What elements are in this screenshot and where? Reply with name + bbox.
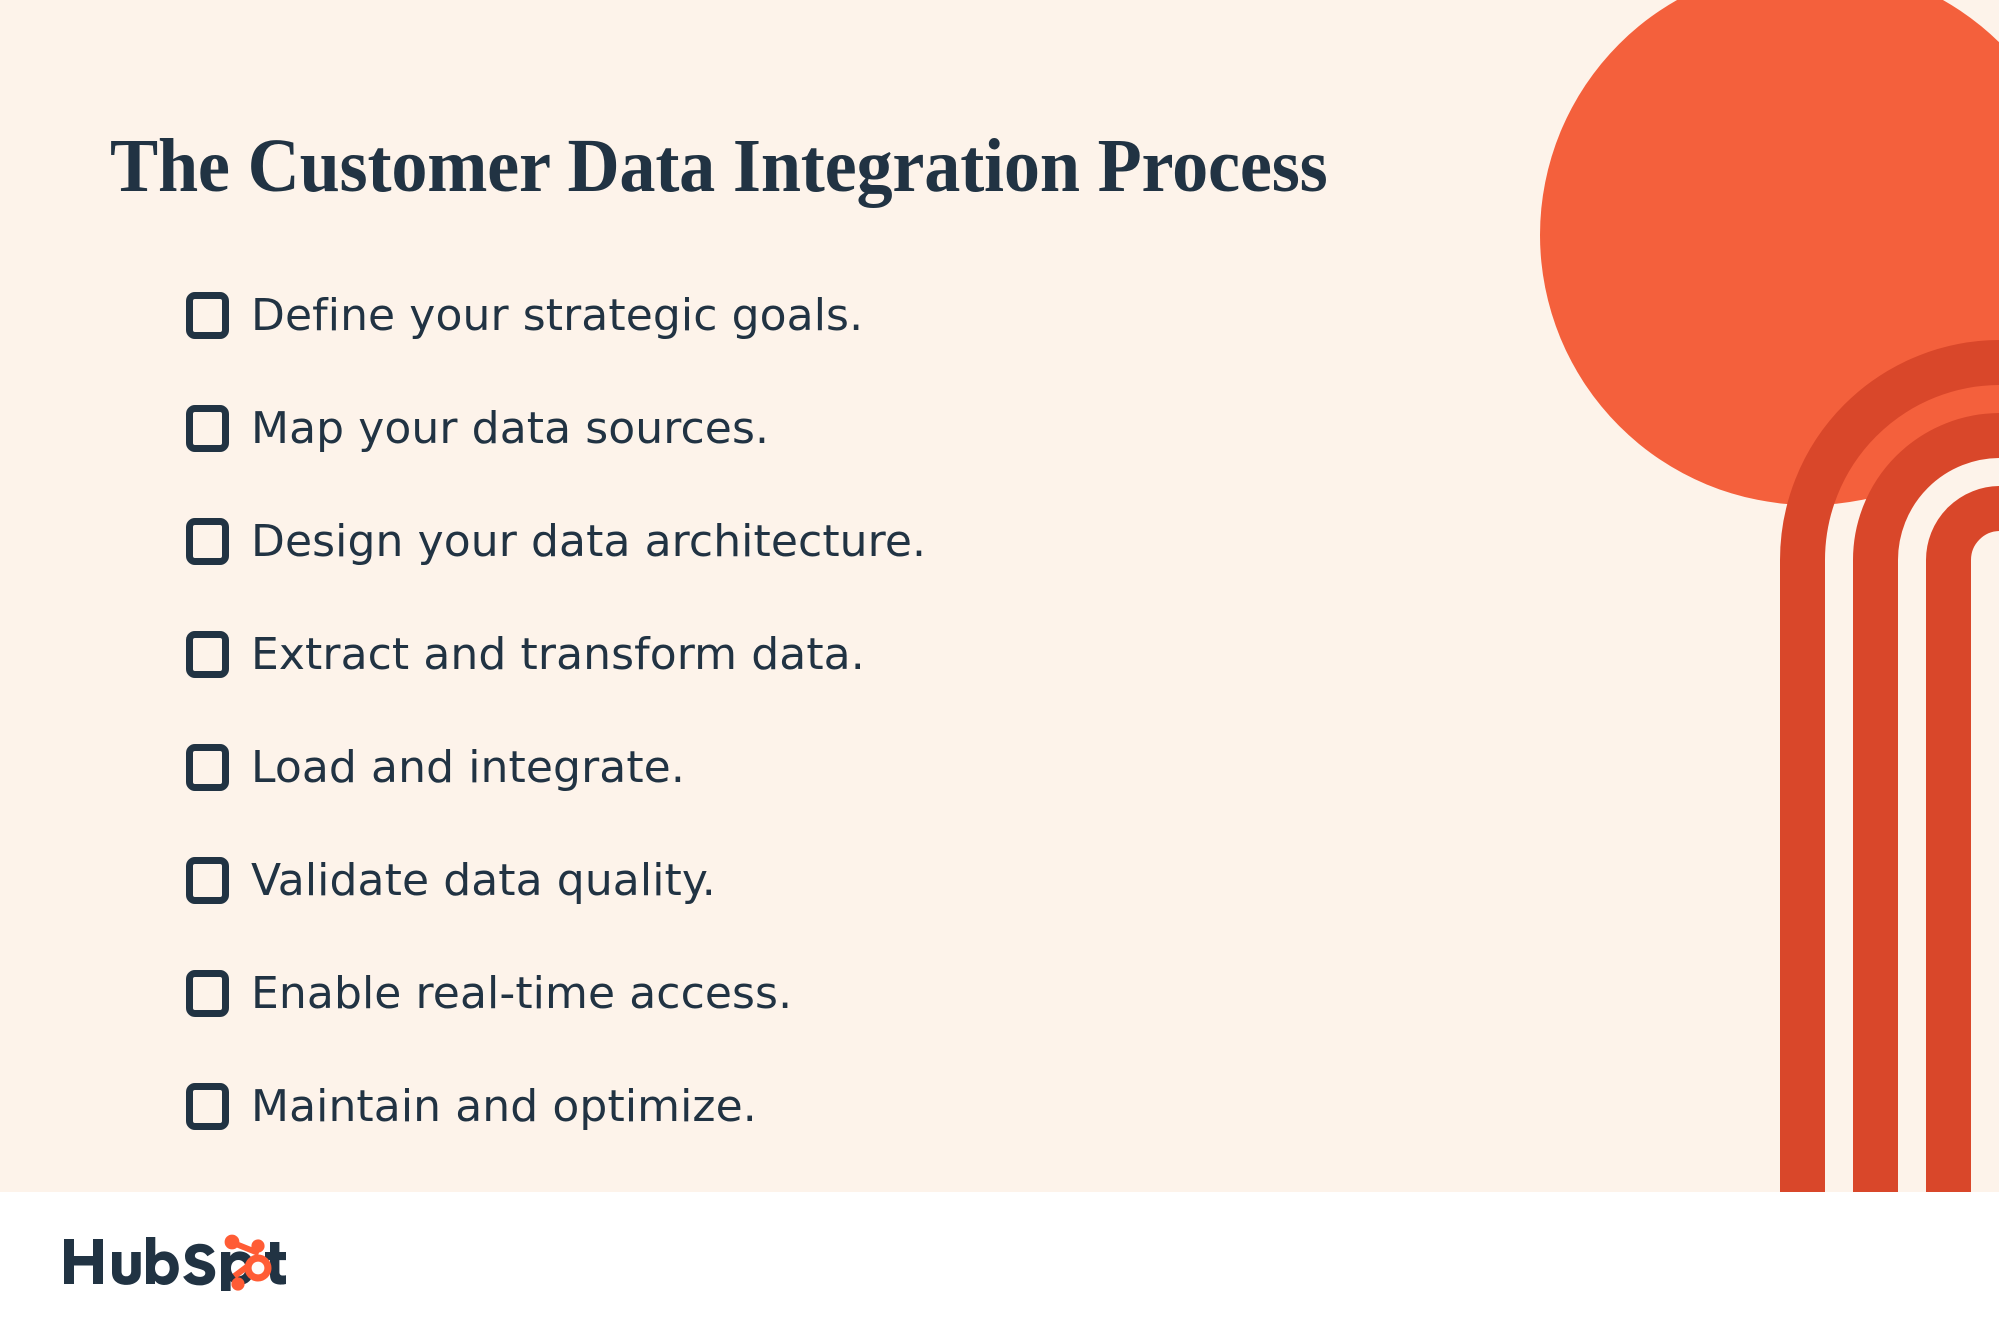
footer-bar — [0, 1192, 1999, 1333]
list-item-label: Enable real-time access. — [251, 969, 792, 1019]
checkbox-empty-icon[interactable] — [186, 1083, 229, 1130]
list-item[interactable]: Load and integrate. — [186, 735, 1506, 800]
list-item[interactable]: Validate data quality. — [186, 848, 1506, 913]
infographic-canvas: The Customer Data Integration Process De… — [0, 0, 1999, 1333]
process-checklist: Define your strategic goals. Map your da… — [186, 283, 1506, 1139]
list-item-label: Maintain and optimize. — [251, 1082, 757, 1132]
orange-circle-shape — [1540, 0, 1999, 505]
list-item[interactable]: Maintain and optimize. — [186, 1074, 1506, 1139]
list-item-label: Design your data architecture. — [251, 517, 926, 567]
checkbox-empty-icon[interactable] — [186, 857, 229, 904]
checkbox-empty-icon[interactable] — [186, 518, 229, 565]
nested-arch-stripes-shape — [1803, 363, 1999, 1193]
checkbox-empty-icon[interactable] — [186, 744, 229, 791]
list-item[interactable]: Enable real-time access. — [186, 961, 1506, 1026]
list-item[interactable]: Map your data sources. — [186, 396, 1506, 461]
list-item-label: Extract and transform data. — [251, 630, 865, 680]
content-area: The Customer Data Integration Process De… — [0, 0, 1999, 1192]
checkbox-empty-icon[interactable] — [186, 292, 229, 339]
checkbox-empty-icon[interactable] — [186, 405, 229, 452]
list-item[interactable]: Design your data architecture. — [186, 509, 1506, 574]
list-item-label: Validate data quality. — [251, 856, 716, 906]
page-title: The Customer Data Integration Process — [110, 124, 1328, 208]
checkbox-empty-icon[interactable] — [186, 631, 229, 678]
list-item-label: Load and integrate. — [251, 743, 685, 793]
list-item[interactable]: Extract and transform data. — [186, 622, 1506, 687]
list-item-label: Map your data sources. — [251, 404, 769, 454]
list-item-label: Define your strategic goals. — [251, 291, 863, 341]
hubspot-logo — [62, 1233, 286, 1291]
checkbox-empty-icon[interactable] — [186, 970, 229, 1017]
list-item[interactable]: Define your strategic goals. — [186, 283, 1506, 348]
